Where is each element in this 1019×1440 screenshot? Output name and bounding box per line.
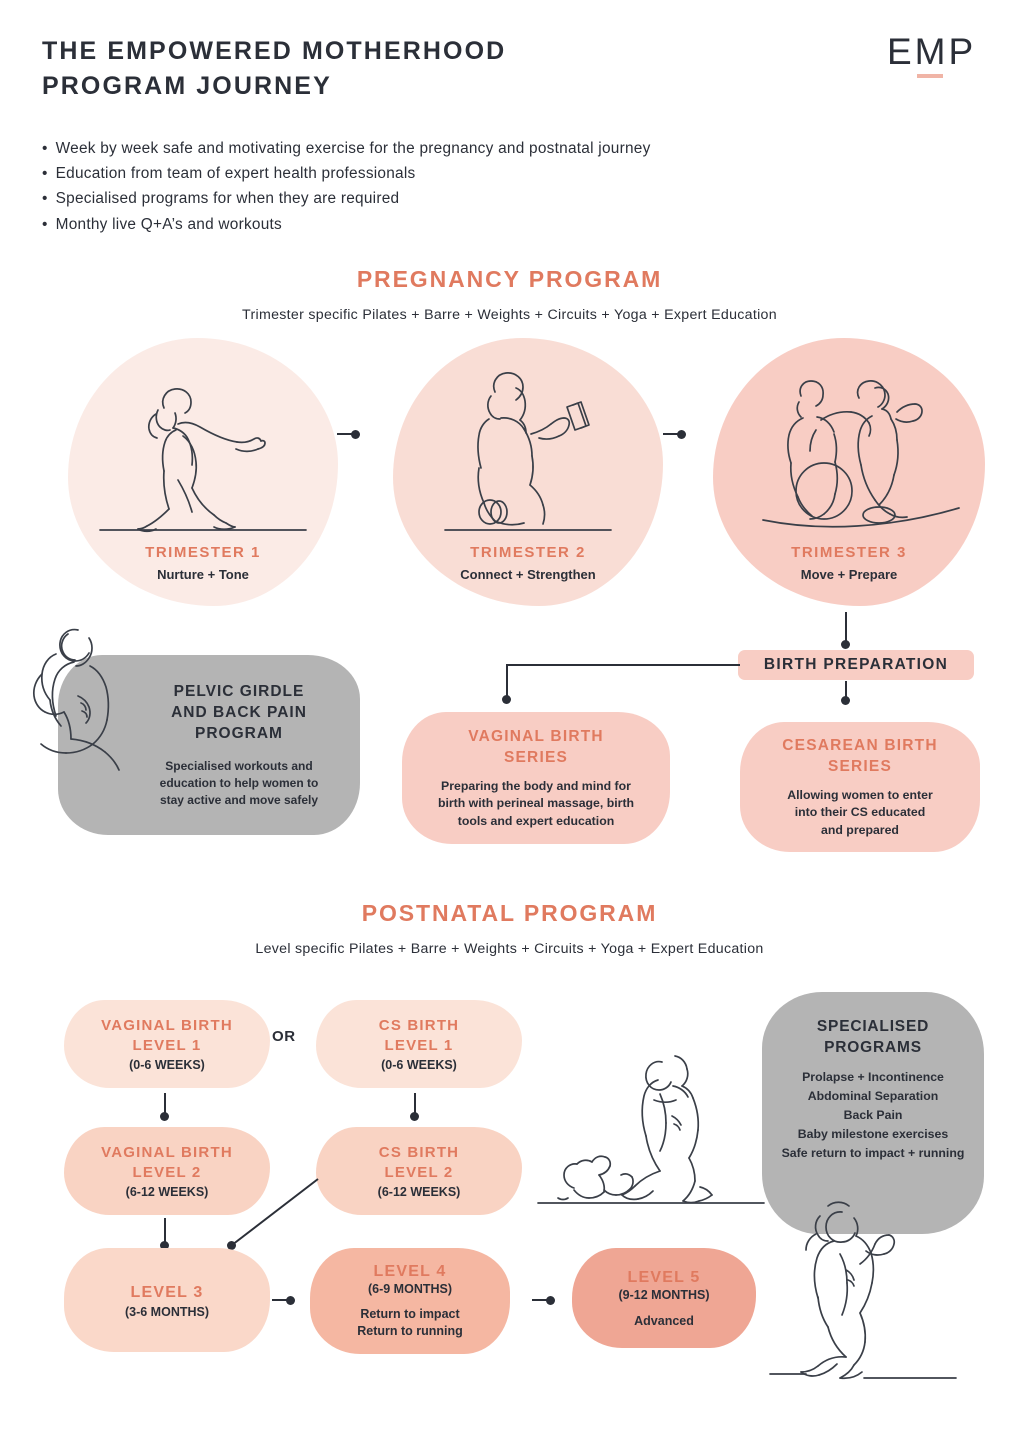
birth-preparation-pill[interactable]: BIRTH PREPARATION: [738, 650, 974, 680]
level-title-line1: LEVEL 5: [627, 1268, 700, 1288]
vaginal-series-title-line1: VAGINAL BIRTH: [468, 726, 604, 747]
arrow-dot-l5: [546, 1296, 555, 1305]
lunge-with-baby-figure: [536, 1038, 766, 1218]
pelvic-body-line3: stay active and move safely: [160, 792, 319, 809]
level-duration: (9-12 MONTHS): [619, 1288, 710, 1302]
level-duration: (0-6 WEEKS): [381, 1058, 457, 1072]
level-title-line2: LEVEL 2: [379, 1163, 459, 1183]
bullet-item: Education from team of expert health pro…: [42, 161, 882, 186]
cesarean-series-body-line1: Allowing women to enter: [787, 787, 933, 805]
cesarean-birth-series-card[interactable]: CESAREAN BIRTH SERIES Allowing women to …: [740, 722, 980, 852]
level-title-line1: CS BIRTH: [379, 1016, 459, 1036]
connector-dot-vaginal-series: [502, 695, 511, 704]
level-title-line2: LEVEL 2: [101, 1163, 233, 1183]
infographic-page: THE EMPOWERED MOTHERHOOD PROGRAM JOURNEY…: [0, 0, 1019, 1440]
feature-bullet-list: Week by week safe and motivating exercis…: [42, 136, 882, 237]
connector-t3-birthprep: [845, 612, 847, 642]
or-label: OR: [272, 1028, 296, 1045]
level-duration: (6-12 WEEKS): [378, 1185, 461, 1199]
page-title-line1: THE EMPOWERED MOTHERHOOD: [42, 34, 506, 69]
level-title-line1: VAGINAL BIRTH: [101, 1016, 233, 1036]
page-title: THE EMPOWERED MOTHERHOOD PROGRAM JOURNEY: [42, 34, 506, 103]
level-title-line1: VAGINAL BIRTH: [101, 1143, 233, 1163]
trimester-3-subtitle: Move + Prepare: [713, 567, 985, 582]
pelvic-title-line1: PELVIC GIRDLE: [171, 681, 307, 702]
connector-dot-birthprep-in: [841, 640, 850, 649]
running-woman-figure: [768, 1196, 958, 1386]
trimester-3-name: TRIMESTER 3: [713, 544, 985, 561]
specialised-item: Safe return to impact + running: [782, 1144, 965, 1163]
trimester-2-subtitle: Connect + Strengthen: [393, 567, 663, 582]
pelvic-title-line2: AND BACK PAIN: [171, 702, 307, 723]
pregnant-back-pain-figure: [28, 618, 148, 778]
emp-logo-underline: [917, 74, 943, 78]
level-card-level-3[interactable]: LEVEL 3 (3-6 MONTHS): [64, 1248, 270, 1352]
level-card-cs-birth-level-2[interactable]: CS BIRTH LEVEL 2 (6-12 WEEKS): [316, 1127, 522, 1215]
page-title-line2: PROGRAM JOURNEY: [42, 69, 506, 104]
connector-cs2-l3: [220, 1175, 330, 1255]
vaginal-series-body-line1: Preparing the body and mind for: [438, 778, 634, 796]
connector-dot-vb2: [160, 1112, 169, 1121]
vaginal-series-body-line2: birth with perineal massage, birth: [438, 795, 634, 813]
level-title-line2: LEVEL 1: [379, 1036, 459, 1056]
trimester-2-name: TRIMESTER 2: [393, 544, 663, 561]
level-title-line1: LEVEL 4: [373, 1262, 446, 1282]
bullet-item: Specialised programs for when they are r…: [42, 186, 882, 211]
arrow-dot-2: [677, 430, 686, 439]
pregnancy-section-title: PREGNANCY PROGRAM: [0, 266, 1019, 293]
level-body-line1: Return to impact: [357, 1306, 463, 1323]
specialised-title-line1: SPECIALISED: [817, 1016, 929, 1037]
specialised-item: Back Pain: [782, 1106, 965, 1125]
level-card-vaginal-birth-level-1[interactable]: VAGINAL BIRTH LEVEL 1 (0-6 WEEKS): [64, 1000, 270, 1088]
pelvic-body-line2: education to help women to: [160, 775, 319, 792]
birth-preparation-label: BIRTH PREPARATION: [764, 656, 948, 674]
trimester-1-subtitle: Nurture + Tone: [68, 567, 338, 582]
level-card-cs-birth-level-1[interactable]: CS BIRTH LEVEL 1 (0-6 WEEKS): [316, 1000, 522, 1088]
level-title-line2: LEVEL 1: [101, 1036, 233, 1056]
cesarean-series-body-line2: into their CS educated: [787, 804, 933, 822]
pregnant-walking-figure: [98, 364, 308, 534]
cesarean-series-title-line1: CESAREAN BIRTH: [782, 735, 937, 756]
pregnant-dumbbell-figure: [443, 362, 613, 534]
level-duration: (6-9 MONTHS): [368, 1282, 452, 1296]
level-body-line2: Return to running: [357, 1323, 463, 1340]
pregnancy-section-subtitle: Trimester specific Pilates + Barre + Wei…: [0, 307, 1019, 323]
emp-logo: EMP: [887, 30, 979, 82]
level-duration: (0-6 WEEKS): [129, 1058, 205, 1072]
arrow-dot-l4: [286, 1296, 295, 1305]
connector-branch-vertical-left: [506, 664, 508, 698]
trimester-1-name: TRIMESTER 1: [68, 544, 338, 561]
cesarean-series-title-line2: SERIES: [782, 756, 937, 777]
bullet-item: Week by week safe and motivating exercis…: [42, 136, 882, 161]
specialised-title-line2: PROGRAMS: [817, 1037, 929, 1058]
specialised-item: Baby milestone exercises: [782, 1125, 965, 1144]
connector-dot-cs2: [410, 1112, 419, 1121]
emp-logo-text: EMP: [887, 30, 979, 74]
cesarean-series-body-line3: and prepared: [787, 822, 933, 840]
level-body-line1: Advanced: [634, 1314, 694, 1328]
level-card-level-4[interactable]: LEVEL 4 (6-9 MONTHS) Return to impact Re…: [310, 1248, 510, 1354]
pelvic-body-line1: Specialised workouts and: [160, 758, 319, 775]
postnatal-section-subtitle: Level specific Pilates + Barre + Weights…: [0, 941, 1019, 957]
arrow-dot-1: [351, 430, 360, 439]
specialised-item: Prolapse + Incontinence: [782, 1068, 965, 1087]
trimester-2-card[interactable]: TRIMESTER 2 Connect + Strengthen: [393, 338, 663, 606]
vaginal-birth-series-card[interactable]: VAGINAL BIRTH SERIES Preparing the body …: [402, 712, 670, 844]
pregnant-partner-ball-figure: [761, 360, 961, 536]
trimester-1-card[interactable]: TRIMESTER 1 Nurture + Tone: [68, 338, 338, 606]
postnatal-section-title: POSTNATAL PROGRAM: [0, 900, 1019, 927]
level-title-line1: CS BIRTH: [379, 1143, 459, 1163]
level-duration: (6-12 WEEKS): [126, 1185, 209, 1199]
level-duration: (3-6 MONTHS): [125, 1305, 209, 1319]
vaginal-series-title-line2: SERIES: [468, 747, 604, 768]
bullet-item: Monthy live Q+A’s and workouts: [42, 212, 882, 237]
connector-branch-horizontal: [506, 664, 740, 666]
level-title-line1: LEVEL 3: [130, 1282, 203, 1303]
level-card-level-5[interactable]: LEVEL 5 (9-12 MONTHS) Advanced: [572, 1248, 756, 1348]
pelvic-title-line3: PROGRAM: [171, 723, 307, 744]
specialised-item: Abdominal Separation: [782, 1087, 965, 1106]
connector-dot-cesarean-series: [841, 696, 850, 705]
trimester-3-card[interactable]: TRIMESTER 3 Move + Prepare: [713, 338, 985, 606]
vaginal-series-body-line3: tools and expert education: [438, 813, 634, 831]
